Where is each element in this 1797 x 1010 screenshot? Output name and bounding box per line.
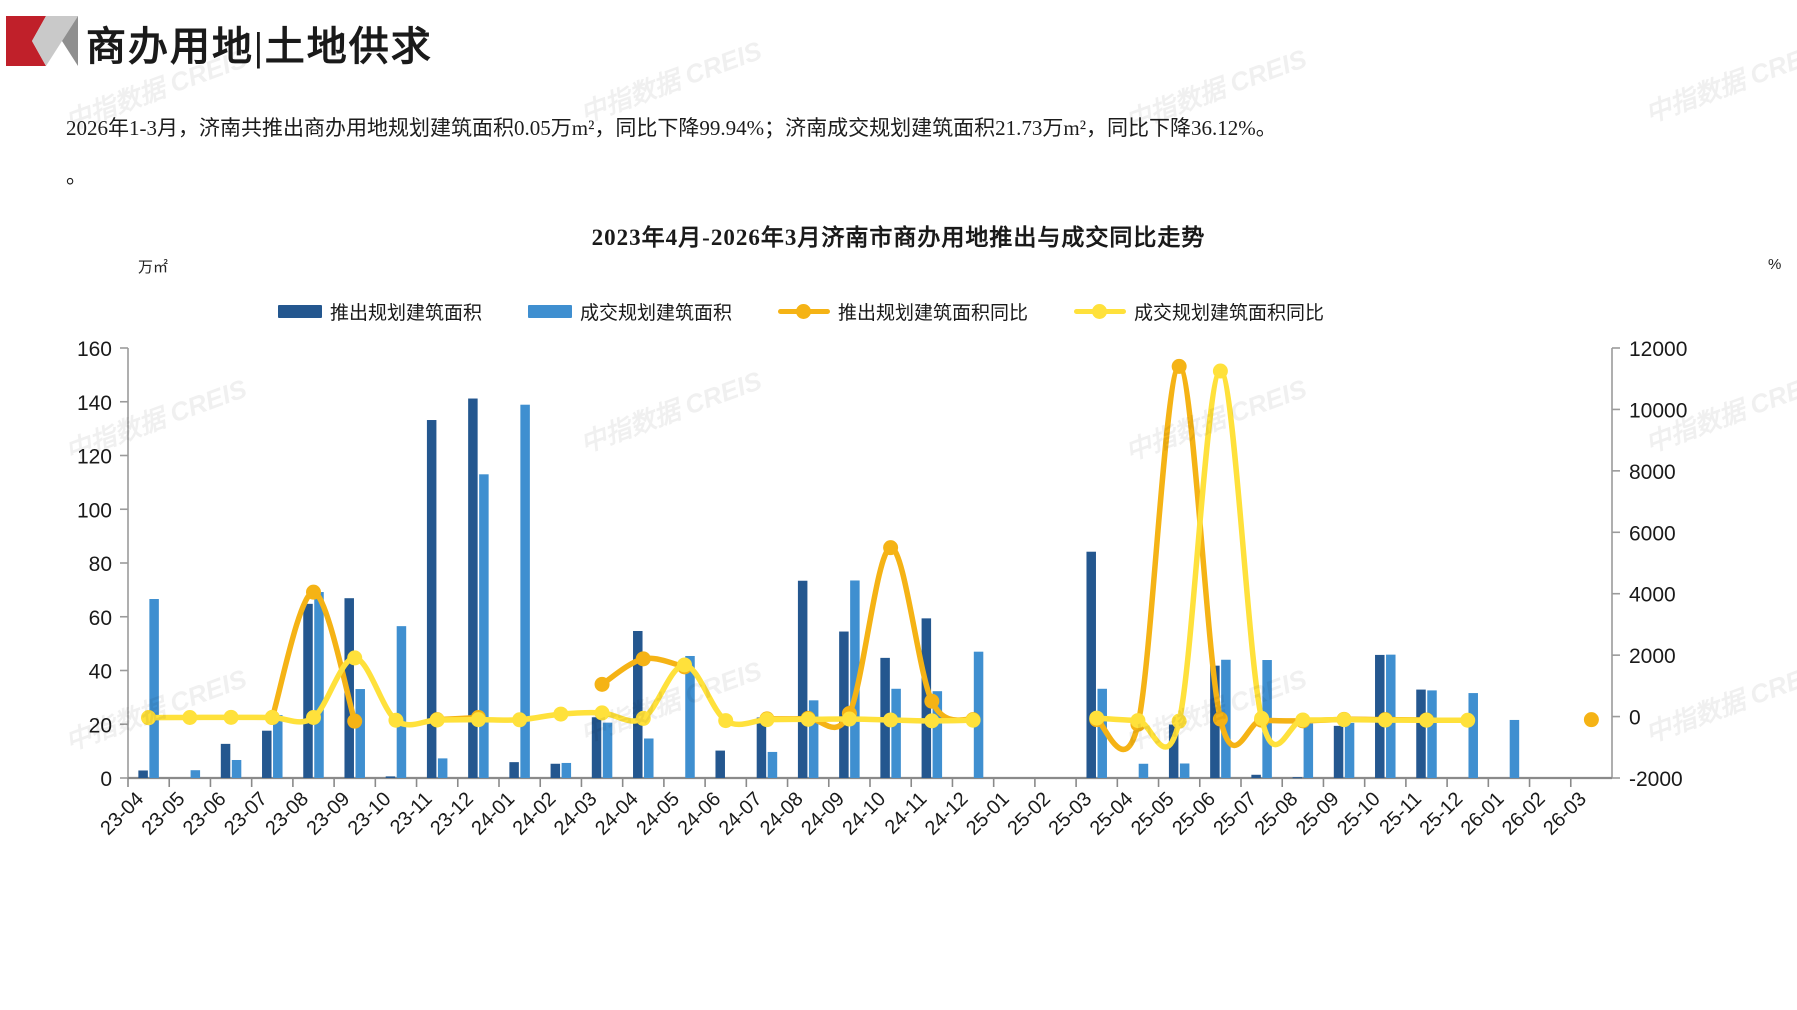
line-marker	[924, 713, 939, 728]
y-tick-label-left: 40	[89, 661, 112, 684]
line-marker	[924, 694, 939, 709]
x-tick-label: 23-10	[344, 788, 396, 840]
bar	[221, 744, 231, 778]
x-tick-label: 26-02	[1498, 788, 1550, 840]
line-marker	[141, 710, 156, 725]
bar	[1510, 720, 1520, 778]
y-tick-label-right: 12000	[1629, 338, 1687, 361]
x-tick-label: 23-06	[179, 788, 231, 840]
line-marker	[306, 585, 321, 600]
line-marker	[883, 540, 898, 555]
x-tick-label: 24-01	[467, 788, 519, 840]
line-marker	[224, 710, 239, 725]
bar	[1427, 690, 1437, 778]
x-tick-label: 24-11	[881, 788, 932, 839]
summary-text: 2026年1-3月，济南共推出商办用地规划建筑面积0.05万m²，同比下降99.…	[66, 100, 1756, 156]
line-marker	[595, 677, 610, 692]
x-tick-label: 24-02	[509, 788, 561, 840]
line-marker	[388, 713, 403, 728]
x-tick-label: 24-10	[838, 788, 890, 840]
line-marker	[883, 712, 898, 727]
bar	[768, 752, 778, 778]
bar	[1180, 763, 1190, 778]
bar	[1345, 723, 1355, 778]
x-tick-label: 24-12	[921, 788, 973, 840]
x-tick-label: 24-05	[632, 788, 684, 840]
line-marker	[553, 707, 568, 722]
y-tick-label-left: 20	[89, 714, 112, 737]
x-tick-label: 24-06	[674, 788, 726, 840]
x-tick-label: 24-09	[797, 788, 849, 840]
y-tick-label-right: 0	[1629, 707, 1641, 730]
x-tick-label: 25-01	[962, 788, 1014, 840]
bar	[397, 626, 407, 778]
bar	[592, 717, 602, 778]
bar	[798, 581, 808, 778]
bar	[1086, 552, 1096, 778]
line-marker	[1460, 713, 1475, 728]
bar	[551, 764, 561, 778]
y-tick-label-right: -2000	[1629, 768, 1683, 791]
x-tick-label: 24-04	[591, 788, 643, 840]
line-marker	[842, 712, 857, 727]
line-marker	[1172, 359, 1187, 374]
bar	[479, 474, 489, 778]
line-marker	[801, 712, 816, 727]
x-tick-label: 25-07	[1209, 788, 1261, 840]
bar	[303, 604, 313, 778]
x-tick-label: 26-01	[1457, 788, 1509, 840]
bar	[562, 763, 572, 778]
x-tick-label: 25-03	[1045, 788, 1097, 840]
bar	[839, 632, 849, 778]
x-tick-label: 23-09	[303, 788, 355, 840]
line-marker	[512, 712, 527, 727]
line-marker	[759, 712, 774, 727]
x-tick-label: 25-05	[1127, 788, 1179, 840]
line-marker	[1089, 711, 1104, 726]
line-marker	[430, 712, 445, 727]
y-tick-label-left: 80	[89, 553, 112, 576]
line-marker	[636, 651, 651, 666]
line-marker	[1254, 711, 1269, 726]
bar	[509, 762, 518, 778]
line-marker	[677, 657, 692, 672]
bar	[149, 599, 159, 778]
line-marker	[1213, 712, 1228, 727]
chart-title: 2023年4月-2026年3月济南市商办用地推出与成交同比走势	[0, 218, 1797, 252]
bar	[1304, 723, 1314, 778]
bar	[891, 689, 901, 778]
bar	[262, 731, 272, 778]
bar	[232, 760, 242, 778]
y-tick-label-left: 120	[77, 446, 112, 469]
bar	[1251, 775, 1261, 778]
line-marker	[966, 713, 981, 728]
line-marker	[182, 710, 197, 725]
bar	[191, 770, 201, 778]
bar	[603, 723, 613, 778]
brand-logo-icon	[6, 16, 78, 66]
x-tick-label: 23-12	[426, 788, 478, 840]
bar	[1139, 764, 1149, 778]
y-tick-label-right: 10000	[1629, 399, 1687, 422]
x-tick-label: 25-04	[1086, 788, 1138, 840]
line-marker	[1213, 364, 1228, 379]
bar	[138, 770, 148, 778]
page-title: 商办用地|土地供求	[86, 14, 433, 72]
line-marker	[718, 713, 733, 728]
summary-text-2: 。	[66, 160, 87, 190]
line-marker	[1295, 712, 1310, 727]
line-marker	[636, 711, 651, 726]
y-tick-label-left: 140	[77, 392, 112, 415]
x-tick-label: 23-07	[220, 788, 272, 840]
x-tick-label: 24-03	[550, 788, 602, 840]
x-tick-label: 25-11	[1375, 788, 1426, 839]
y-tick-label-right: 2000	[1629, 645, 1676, 668]
bar	[1416, 690, 1426, 778]
y-tick-label-left: 100	[77, 499, 112, 522]
x-tick-label: 23-04	[96, 788, 148, 840]
x-tick-label: 26-03	[1539, 788, 1591, 840]
x-tick-label: 25-10	[1333, 788, 1385, 840]
bar	[314, 592, 324, 778]
bar	[355, 689, 365, 778]
y-tick-label-right: 4000	[1629, 584, 1676, 607]
bar	[715, 751, 725, 778]
x-tick-label: 24-07	[715, 788, 767, 840]
x-tick-label: 25-09	[1292, 788, 1344, 840]
line-marker	[347, 714, 362, 729]
line-marker	[1337, 712, 1352, 727]
line-marker	[1378, 713, 1393, 728]
line-marker	[1130, 713, 1145, 728]
bar	[644, 738, 654, 778]
x-tick-label: 23-11	[386, 788, 437, 839]
line-marker	[595, 705, 610, 720]
line-marker	[1419, 713, 1434, 728]
x-tick-label: 25-02	[1003, 788, 1055, 840]
line-marker	[1584, 712, 1599, 727]
y-tick-label-right: 8000	[1629, 461, 1676, 484]
x-tick-label: 23-08	[261, 788, 313, 840]
line-marker	[471, 712, 486, 727]
bar	[1468, 693, 1478, 778]
line-marker	[265, 710, 280, 725]
bar	[386, 776, 396, 778]
x-tick-label: 23-05	[138, 788, 190, 840]
y-tick-label-left: 60	[89, 607, 112, 630]
x-tick-label: 25-06	[1168, 788, 1220, 840]
line-marker	[1172, 714, 1187, 729]
y-tick-label-left: 0	[100, 768, 112, 791]
bar	[1334, 726, 1344, 778]
y-tick-label-right: 6000	[1629, 522, 1676, 545]
line-marker	[347, 650, 362, 665]
bar	[1293, 777, 1303, 778]
page-header: 商办用地|土地供求	[0, 0, 1797, 84]
line-marker	[306, 710, 321, 725]
y-tick-label-left: 160	[77, 338, 112, 361]
chart-plot-area: 020406080100120140160-200002000400060008…	[0, 250, 1797, 1010]
x-tick-label: 24-08	[756, 788, 808, 840]
x-tick-label: 25-12	[1416, 788, 1468, 840]
x-tick-label: 25-08	[1251, 788, 1303, 840]
bar	[438, 758, 448, 778]
